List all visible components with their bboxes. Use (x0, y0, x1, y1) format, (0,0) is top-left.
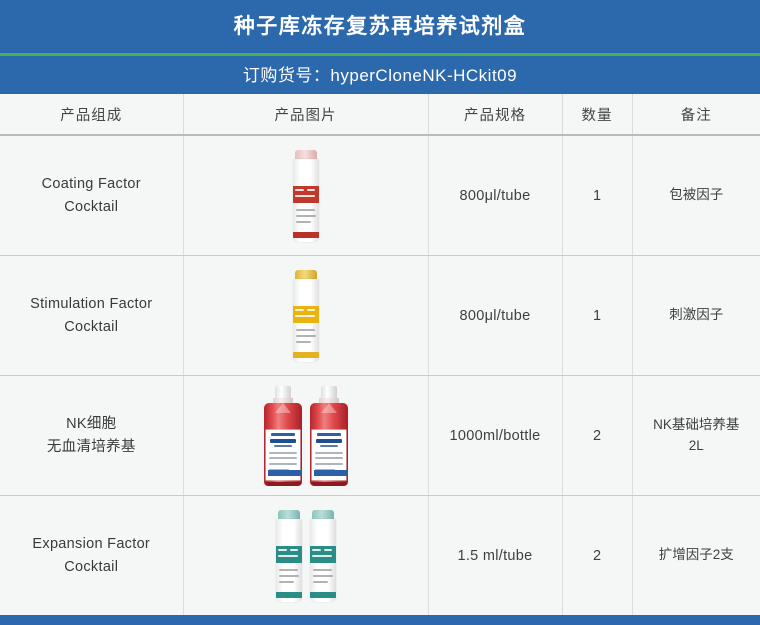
spec-value: 1.5 ml/tube (433, 548, 558, 564)
qty-value: 2 (567, 548, 628, 564)
cell-note: 扩增因子2支 (632, 496, 760, 616)
header-title-row: 种子库冻存复苏再培养试剂盒 (0, 0, 760, 53)
cell-composition: Coating FactorCocktail (0, 135, 183, 256)
header-subtitle-row: 订购货号：hyperCloneNK-HCkit09 (0, 56, 760, 94)
cell-composition: Expansion FactorCocktail (0, 496, 183, 616)
table-row: Stimulation FactorCocktail (0, 256, 760, 376)
qty-value: 1 (567, 188, 628, 204)
cell-image (183, 256, 428, 376)
column-header-composition: 产品组成 (0, 94, 183, 135)
media-bottle-icon (264, 386, 302, 486)
cell-composition: Stimulation FactorCocktail (0, 256, 183, 376)
table-header-row: 产品组成 产品图片 产品规格 数量 备注 (0, 94, 760, 135)
table-row: Coating FactorCocktail (0, 135, 760, 256)
qty-value: 2 (567, 428, 628, 444)
column-header-image: 产品图片 (183, 94, 428, 135)
product-image-coating-factor (188, 141, 424, 251)
product-name: Stimulation FactorCocktail (4, 293, 179, 338)
cell-image (183, 496, 428, 616)
spec-value: 1000ml/bottle (433, 428, 558, 444)
cell-qty: 1 (562, 135, 632, 256)
cell-qty: 2 (562, 496, 632, 616)
cell-qty: 1 (562, 256, 632, 376)
product-image-expansion-factor (188, 501, 424, 611)
product-name: NK细胞无血清培养基 (4, 413, 179, 458)
column-header-note: 备注 (632, 94, 760, 135)
order-number-label: 订购货号：hyperCloneNK-HCkit09 (243, 67, 517, 84)
yellow-cryovial-icon (293, 270, 319, 362)
cell-image (183, 135, 428, 256)
kit-spec-page: 种子库冻存复苏再培养试剂盒 订购货号：hyperCloneNK-HCkit09 … (0, 0, 760, 613)
column-header-qty: 数量 (562, 94, 632, 135)
spec-value: 800μl/tube (433, 188, 558, 204)
table-row: NK细胞无血清培养基 (0, 376, 760, 496)
cell-spec: 1.5 ml/tube (428, 496, 562, 616)
header-banner: 种子库冻存复苏再培养试剂盒 (0, 0, 760, 53)
note-value: 扩增因子2支 (637, 545, 757, 565)
cell-spec: 1000ml/bottle (428, 376, 562, 496)
cell-composition: NK细胞无血清培养基 (0, 376, 183, 496)
cell-spec: 800μl/tube (428, 135, 562, 256)
note-value: 包被因子 (637, 185, 757, 205)
teal-cryovial-icon (276, 510, 302, 602)
column-header-spec: 产品规格 (428, 94, 562, 135)
table-header: 产品组成 产品图片 产品规格 数量 备注 (0, 94, 760, 135)
media-bottle-icon (310, 386, 348, 486)
spec-value: 800μl/tube (433, 308, 558, 324)
qty-value: 1 (567, 308, 628, 324)
cell-note: 刺激因子 (632, 256, 760, 376)
cell-spec: 800μl/tube (428, 256, 562, 376)
kit-components-table: 产品组成 产品图片 产品规格 数量 备注 Coating FactorCockt… (0, 94, 760, 615)
product-image-nk-medium (188, 381, 424, 491)
footer-bar (0, 615, 760, 625)
cell-qty: 2 (562, 376, 632, 496)
note-value: NK基础培养基2L (637, 415, 757, 456)
table-row: Expansion FactorCocktail (0, 496, 760, 616)
product-name: Expansion FactorCocktail (4, 533, 179, 578)
cell-note: NK基础培养基2L (632, 376, 760, 496)
cell-image (183, 376, 428, 496)
product-image-stimulation-factor (188, 261, 424, 371)
table-body: Coating FactorCocktail (0, 135, 760, 615)
product-name: Coating FactorCocktail (4, 173, 179, 218)
red-cryovial-icon (293, 150, 319, 242)
note-value: 刺激因子 (637, 305, 757, 325)
page-title: 种子库冻存复苏再培养试剂盒 (234, 16, 527, 37)
cell-note: 包被因子 (632, 135, 760, 256)
teal-cryovial-icon (310, 510, 336, 602)
